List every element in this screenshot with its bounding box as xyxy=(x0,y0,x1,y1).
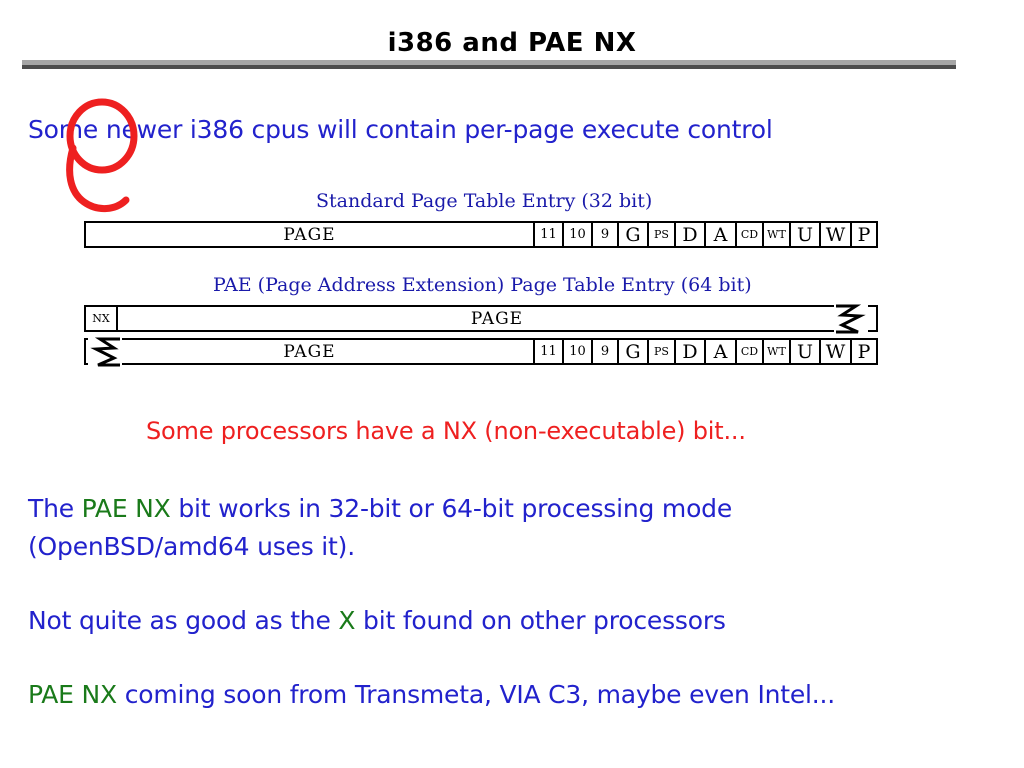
pte-cell-bit-cd: CD xyxy=(735,223,762,246)
nx-bit-note: Some processors have a NX (non-executabl… xyxy=(146,417,746,445)
pte-cell-bit-wt-low: WT xyxy=(762,340,789,363)
pte-cell-bit-cd-low: CD xyxy=(735,340,762,363)
pte-cell-bit-p-low: P xyxy=(850,340,876,363)
pte-cell-bit-d: D xyxy=(674,223,704,246)
pte-cell-page: PAGE xyxy=(86,223,533,246)
pte-cell-page-low: PAGE xyxy=(86,340,533,363)
x-bit-before: Not quite as good as the xyxy=(28,606,338,635)
x-bit-after: bit found on other processors xyxy=(355,606,725,635)
pte-cell-nx: NX xyxy=(86,307,116,330)
pte-cell-bit-g: G xyxy=(617,223,647,246)
pte-cell-bit-ps: PS xyxy=(647,223,674,246)
pte-cell-bit-9-low: 9 xyxy=(591,340,617,363)
pte-cell-bit-w: W xyxy=(819,223,850,246)
pte-cell-bit-d-low: D xyxy=(674,340,704,363)
page-title: i386 and PAE NX xyxy=(0,28,1024,58)
pte-cell-bit-a: A xyxy=(704,223,735,246)
pae-nx-highlight: PAE NX xyxy=(82,494,171,523)
standard-pte-caption: Standard Page Table Entry (32 bit) xyxy=(316,190,652,212)
pte-cell-bit-g-low: G xyxy=(617,340,647,363)
pae-nx-paragraph-line2: (OpenBSD/amd64 uses it). xyxy=(28,532,355,561)
pte-cell-bit-u: U xyxy=(789,223,819,246)
divider-shadow-bar xyxy=(22,65,956,69)
pae-nx-lead: The xyxy=(28,494,82,523)
pae-nx-paragraph-line1: The PAE NX bit works in 32-bit or 64-bit… xyxy=(28,494,732,523)
pae-pte-low-row: PAGE 11 10 9 G PS D A CD WT U W P xyxy=(84,338,878,365)
coming-soon-paragraph: PAE NX coming soon from Transmeta, VIA C… xyxy=(28,680,835,709)
title-divider xyxy=(22,60,956,69)
pte-cell-bit-a-low: A xyxy=(704,340,735,363)
standard-pte-row: PAGE 11 10 9 G PS D A CD WT U W P xyxy=(84,221,878,248)
coming-soon-rest: coming soon from Transmeta, VIA C3, mayb… xyxy=(117,680,835,709)
page-table-entry-diagram: Standard Page Table Entry (32 bit) PAGE … xyxy=(0,190,1024,410)
pte-cell-bit-9: 9 xyxy=(591,223,617,246)
pte-cell-bit-10: 10 xyxy=(562,223,591,246)
x-bit-paragraph: Not quite as good as the X bit found on … xyxy=(28,606,726,635)
pte-cell-bit-u-low: U xyxy=(789,340,819,363)
pte-cell-bit-11-low: 11 xyxy=(533,340,562,363)
pte-cell-bit-ps-low: PS xyxy=(647,340,674,363)
pte-cell-bit-11: 11 xyxy=(533,223,562,246)
pte-cell-page-high: PAGE xyxy=(116,307,876,330)
pae-pte-high-row: NX PAGE xyxy=(84,305,878,332)
x-bit-highlight: X xyxy=(338,606,355,635)
pae-nx-rest: bit works in 32-bit or 64-bit processing… xyxy=(171,494,732,523)
pte-cell-bit-wt: WT xyxy=(762,223,789,246)
pte-cell-bit-p: P xyxy=(850,223,876,246)
coming-soon-highlight: PAE NX xyxy=(28,680,117,709)
pte-cell-bit-10-low: 10 xyxy=(562,340,591,363)
intro-text: Some newer i386 cpus will contain per-pa… xyxy=(28,115,773,144)
pae-pte-caption: PAE (Page Address Extension) Page Table … xyxy=(213,274,752,296)
pte-cell-bit-w-low: W xyxy=(819,340,850,363)
